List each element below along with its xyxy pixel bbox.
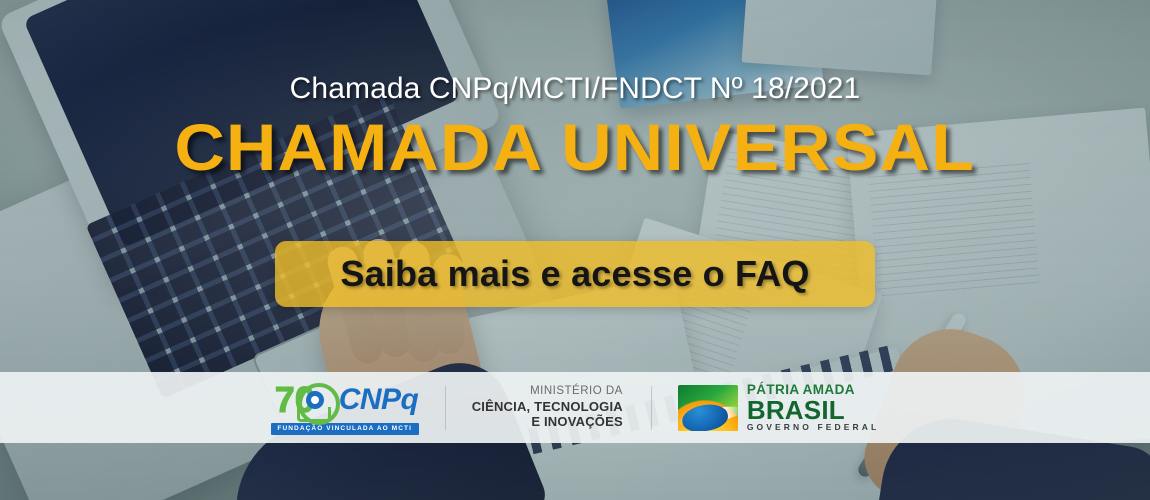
cnpq-logo-row: 70 CNPq xyxy=(271,380,419,420)
cnpq-wordmark: CNPq xyxy=(339,385,419,415)
call-reference-label: Chamada CNPq/MCTI/FNDCT Nº 18/2021 xyxy=(290,72,861,106)
cnpq-lens-highlight-icon xyxy=(311,396,319,404)
governo-federal-logo[interactable]: PÁTRIA AMADA BRASIL GOVERNO FEDERAL xyxy=(678,383,879,432)
institutional-logo-bar: 70 CNPq FUNDAÇÃO VINCULADA AO MCTI MINIS… xyxy=(0,372,1150,443)
brasil-line-2: BRASIL xyxy=(747,397,879,424)
ministry-line-1: MINISTÉRIO DA xyxy=(472,385,623,399)
learn-more-faq-button[interactable]: Saiba mais e acesse o FAQ xyxy=(275,241,875,307)
brasil-wordmark: PÁTRIA AMADA BRASIL GOVERNO FEDERAL xyxy=(747,383,879,432)
logo-divider xyxy=(445,386,446,430)
page-title: CHAMADA UNIVERSAL xyxy=(175,112,976,183)
cnpq-ribbon-label: FUNDAÇÃO VINCULADA AO MCTI xyxy=(271,423,419,435)
cnpq-logo[interactable]: 70 CNPq FUNDAÇÃO VINCULADA AO MCTI xyxy=(271,380,419,436)
cnpq-lens-stand-icon xyxy=(297,407,331,422)
logo-divider xyxy=(651,386,652,430)
cnpq-70-anniversary-icon: 70 xyxy=(275,380,337,420)
ministry-logo[interactable]: MINISTÉRIO DA CIÊNCIA, TECNOLOGIA E INOV… xyxy=(472,385,625,429)
ministry-line-2: CIÊNCIA, TECNOLOGIA xyxy=(472,399,623,414)
learn-more-faq-label: Saiba mais e acesse o FAQ xyxy=(340,253,809,295)
ministry-line-3: E INOVAÇÕES xyxy=(472,414,623,429)
brasil-line-3: GOVERNO FEDERAL xyxy=(747,423,879,432)
campaign-banner: Chamada CNPq/MCTI/FNDCT Nº 18/2021 CHAMA… xyxy=(0,0,1150,500)
brasil-flag-icon xyxy=(678,385,738,431)
